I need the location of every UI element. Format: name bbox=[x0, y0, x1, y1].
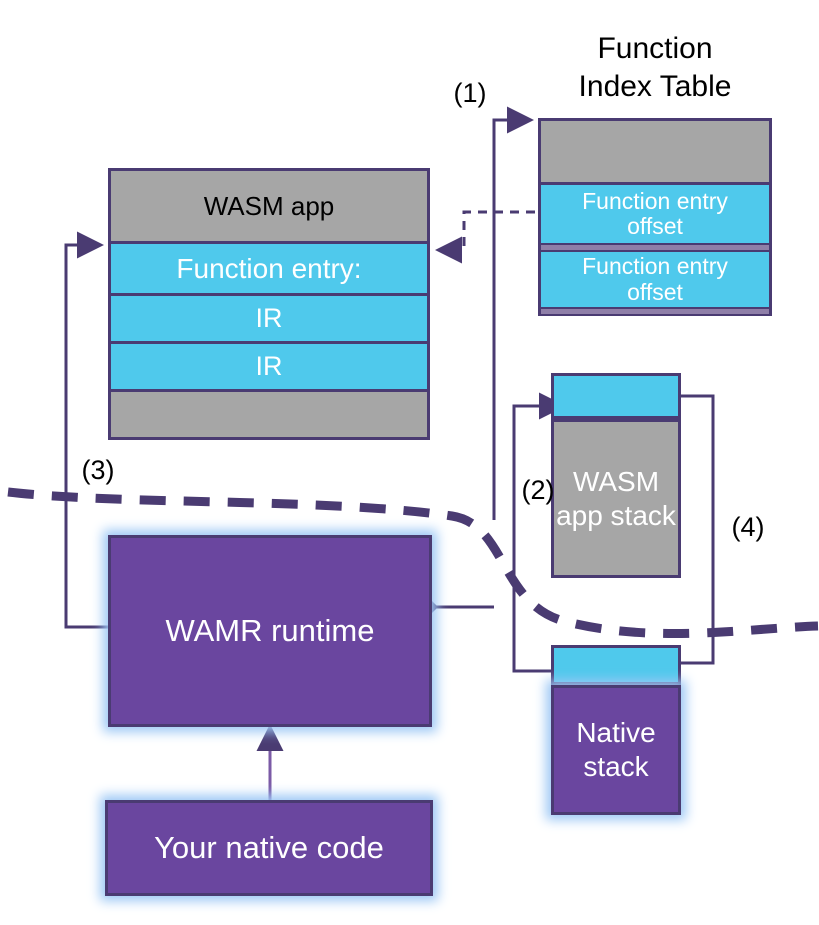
native-stack: Native stack bbox=[551, 645, 681, 815]
wasm-app-row-ir-2: IR bbox=[111, 344, 427, 392]
step-label-3: (3) bbox=[68, 455, 128, 486]
connector-3 bbox=[66, 245, 108, 627]
wasm-app-row-ir-1: IR bbox=[111, 296, 427, 344]
fit-row-offset-1: Function entry offset bbox=[541, 182, 769, 243]
step-label-1: (1) bbox=[440, 78, 500, 109]
wasm-app-row-tail bbox=[111, 392, 427, 437]
wasm-app-stack: WASM app stack bbox=[551, 373, 681, 578]
wasm-app-stack-body: WASM app stack bbox=[551, 419, 681, 578]
wasm-app-stack-top-band bbox=[551, 373, 681, 419]
native-stack-top-band bbox=[551, 645, 681, 685]
wasm-app-header: WASM app bbox=[111, 171, 427, 241]
your-native-code-box: Your native code bbox=[105, 800, 433, 896]
wasm-app-row-function-entry: Function entry: bbox=[111, 241, 427, 296]
function-index-table-title: Function Index Table bbox=[520, 30, 790, 105]
fit-separator-1 bbox=[541, 243, 769, 252]
step-label-2: (2) bbox=[508, 475, 568, 506]
wasm-app-box: WASM app Function entry: IR IR bbox=[108, 168, 430, 440]
wamr-runtime-box: WAMR runtime bbox=[108, 535, 432, 727]
diagram-canvas: Function Index Table WASM app Function e… bbox=[0, 0, 819, 925]
fit-separator-2 bbox=[541, 307, 769, 316]
native-stack-body: Native stack bbox=[551, 685, 681, 815]
connector-runtime-to-trunk bbox=[426, 601, 494, 613]
step-label-4: (4) bbox=[718, 512, 778, 543]
fit-row-empty bbox=[541, 121, 769, 182]
function-index-table-box: Function entry offset Function entry off… bbox=[538, 118, 772, 316]
fit-row-offset-2: Function entry offset bbox=[541, 252, 769, 307]
